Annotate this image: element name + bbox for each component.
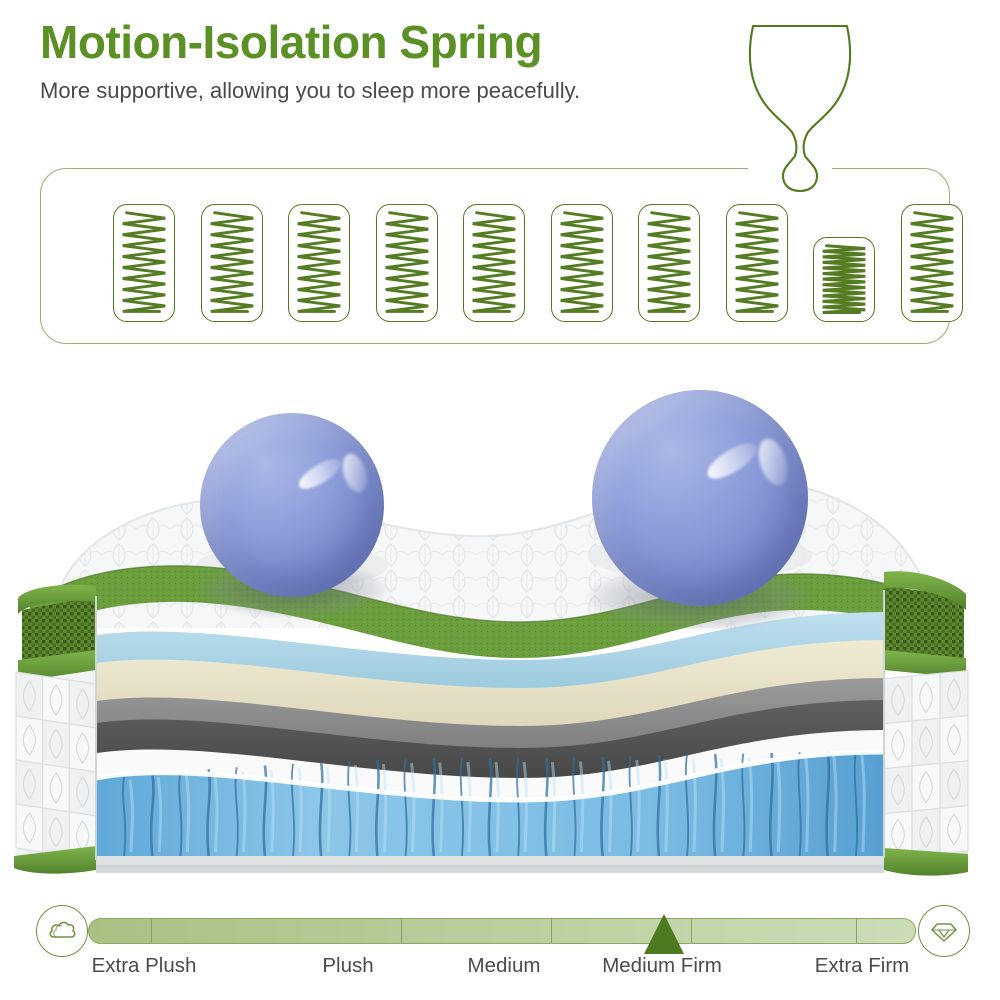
bar-tick <box>856 919 857 943</box>
quilt-cell <box>912 763 940 811</box>
firmness-scale[interactable]: Extra PlushPlushMediumMedium FirmExtra F… <box>0 896 1000 992</box>
left-side-face <box>14 585 96 874</box>
coil-zigzag <box>202 205 262 319</box>
quilt-cell <box>16 716 43 764</box>
quilt-cell <box>884 721 912 769</box>
pressure-ball-left <box>200 413 384 597</box>
foundation-shadow <box>96 865 884 873</box>
spring-7 <box>638 204 700 322</box>
firmness-label-3[interactable]: Medium Firm <box>602 954 722 978</box>
diamond-icon <box>918 905 970 957</box>
quilt-cell <box>884 676 912 724</box>
quilt-cell <box>43 808 70 856</box>
firmness-labels: Extra PlushPlushMediumMedium FirmExtra F… <box>0 954 1000 990</box>
page-title: Motion-Isolation Spring <box>40 18 760 66</box>
spring-5 <box>463 204 525 322</box>
quilt-cell <box>884 766 912 814</box>
coil-zigzag <box>377 205 437 319</box>
coil-zigzag <box>902 205 962 319</box>
bar-tick <box>551 919 552 943</box>
bar-tick <box>151 919 152 943</box>
quilt-cell <box>912 718 940 766</box>
spring-2 <box>201 204 263 322</box>
quilt-cell <box>43 676 70 724</box>
bar-tick <box>691 919 692 943</box>
quilt-cell <box>43 764 70 812</box>
coil-zigzag <box>727 205 787 319</box>
quilt-cell <box>16 672 43 720</box>
firmness-label-4[interactable]: Extra Firm <box>815 954 910 978</box>
quilt-cell <box>940 761 968 809</box>
spring-9-compressed <box>813 237 875 322</box>
coil-zigzag <box>114 205 174 319</box>
coil-zigzag <box>464 205 524 319</box>
firmness-bar[interactable] <box>88 918 916 944</box>
spring-4 <box>376 204 438 322</box>
quilt-cell <box>69 768 96 816</box>
page-subtitle: More supportive, allowing you to sleep m… <box>40 78 760 104</box>
pressure-ball-right <box>592 390 808 606</box>
bar-tick <box>401 919 402 943</box>
cloud-icon <box>36 905 88 957</box>
coil-zigzag <box>639 205 699 319</box>
spring-6 <box>551 204 613 322</box>
right-side-face <box>884 571 968 875</box>
header: Motion-Isolation Spring More supportive,… <box>40 18 760 104</box>
spring-1 <box>113 204 175 322</box>
quilted-side-panel-right <box>884 671 968 859</box>
quilt-cell <box>43 720 70 768</box>
quilt-cell <box>69 724 96 772</box>
firmness-marker[interactable] <box>644 914 684 954</box>
infographic-canvas: Motion-Isolation Spring More supportive,… <box>0 0 1000 1000</box>
firmness-label-0[interactable]: Extra Plush <box>92 954 197 978</box>
spring-8 <box>726 204 788 322</box>
quilt-cell <box>16 804 43 852</box>
quilted-side-panel-left <box>16 672 96 860</box>
firmness-label-2[interactable]: Medium <box>468 954 541 978</box>
quilt-cell <box>69 680 96 728</box>
quilt-cell <box>940 671 968 719</box>
ball-surface <box>200 413 384 597</box>
firmness-label-1[interactable]: Plush <box>322 954 373 978</box>
quilt-cell <box>940 716 968 764</box>
wine-glass-icon <box>735 20 865 200</box>
coil-zigzag <box>552 205 612 319</box>
quilt-cell <box>912 673 940 721</box>
quilt-cell <box>912 808 940 856</box>
coil-zigzag <box>814 238 874 320</box>
quilt-cell <box>16 760 43 808</box>
quilt-cell <box>940 806 968 854</box>
mattress-cutaway-illustration <box>0 360 1000 880</box>
spring-3 <box>288 204 350 322</box>
spring-10 <box>901 204 963 322</box>
coil-zigzag <box>289 205 349 319</box>
mattress-svg <box>0 360 1000 880</box>
ball-surface <box>592 390 808 606</box>
